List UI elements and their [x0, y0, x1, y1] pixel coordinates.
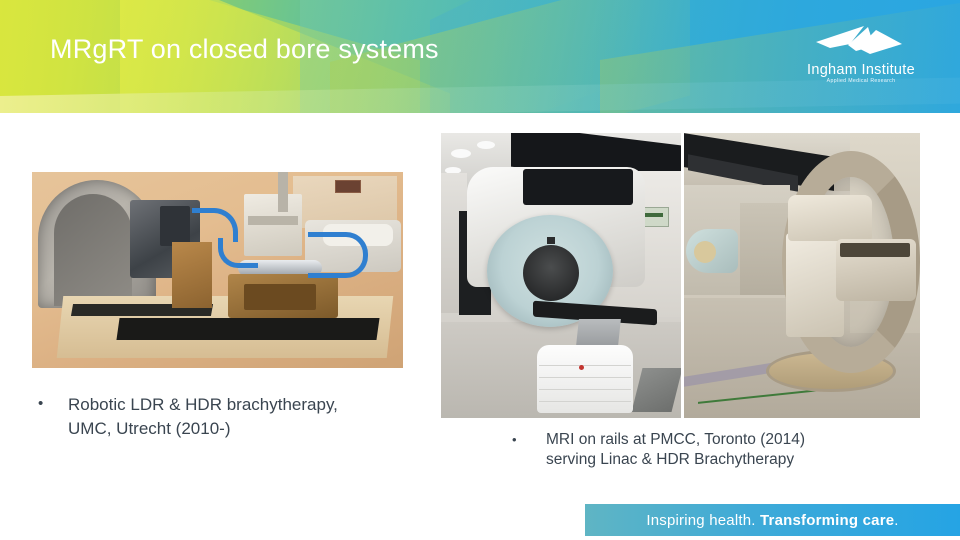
bullet-list-left: • Robotic LDR & HDR brachytherapy, UMC, … [38, 393, 438, 441]
robotic-brachytherapy-mri-photo [32, 172, 403, 368]
footer-suffix: . [894, 512, 898, 529]
linac-treatment-head [788, 195, 872, 241]
mri-bore-indicator [547, 237, 555, 244]
couch-seam-1 [539, 365, 631, 366]
wing-icon [786, 24, 936, 64]
footer-prefix: Inspiring health. [646, 512, 760, 529]
brass-actuator-rear [172, 242, 212, 308]
slide-footer-banner: Inspiring health. Transforming care. [585, 504, 960, 536]
couch-seam-4 [539, 401, 631, 402]
couch-seam-3 [539, 389, 631, 390]
mri-bore-opening [54, 194, 132, 306]
robot-motor-block [160, 206, 190, 246]
ceiling-light-3 [477, 141, 495, 149]
page-title: MRgRT on closed bore systems [50, 34, 439, 65]
mri-housing-shadow [523, 169, 633, 205]
blue-hose-3 [308, 232, 368, 278]
patient-couch-base [537, 345, 633, 413]
bullet-marker: • [512, 430, 546, 470]
linac-gantry-room-photo [684, 133, 920, 418]
mri-scanner-room-photo [441, 133, 681, 418]
console-post [278, 172, 288, 212]
mri-bore-opening [694, 241, 716, 263]
slide-header-banner: MRgRT on closed bore systems Ingham Inst… [0, 0, 960, 113]
wall-outlet [335, 180, 361, 193]
footer-emphasis: Transforming care [760, 512, 894, 529]
logo-name: Ingham Institute [786, 62, 936, 78]
slide: MRgRT on closed bore systems Ingham Inst… [0, 0, 960, 540]
console-button-row [248, 216, 298, 225]
bullet-list-right: • MRI on rails at PMCC, Toronto (2014) s… [512, 430, 932, 470]
linac-panel-slot [840, 243, 910, 257]
bullet-text: MRI on rails at PMCC, Toronto (2014) ser… [546, 430, 805, 470]
brass-core [244, 284, 316, 310]
mri-bore-opening [523, 245, 579, 301]
couch-seam-2 [539, 377, 631, 378]
footer-tagline: Inspiring health. Transforming care. [646, 512, 898, 529]
bullet-text: Robotic LDR & HDR brachytherapy, UMC, Ut… [68, 393, 338, 441]
couch-status-light [579, 365, 584, 370]
ceiling-light-1 [451, 149, 471, 158]
header-facet-4 [430, 0, 730, 113]
bullet-marker: • [38, 393, 68, 441]
ingham-institute-logo: Ingham Institute Applied Medical Researc… [786, 24, 936, 88]
mounting-plate-front [116, 318, 379, 340]
logo-tagline: Applied Medical Research [786, 78, 936, 84]
